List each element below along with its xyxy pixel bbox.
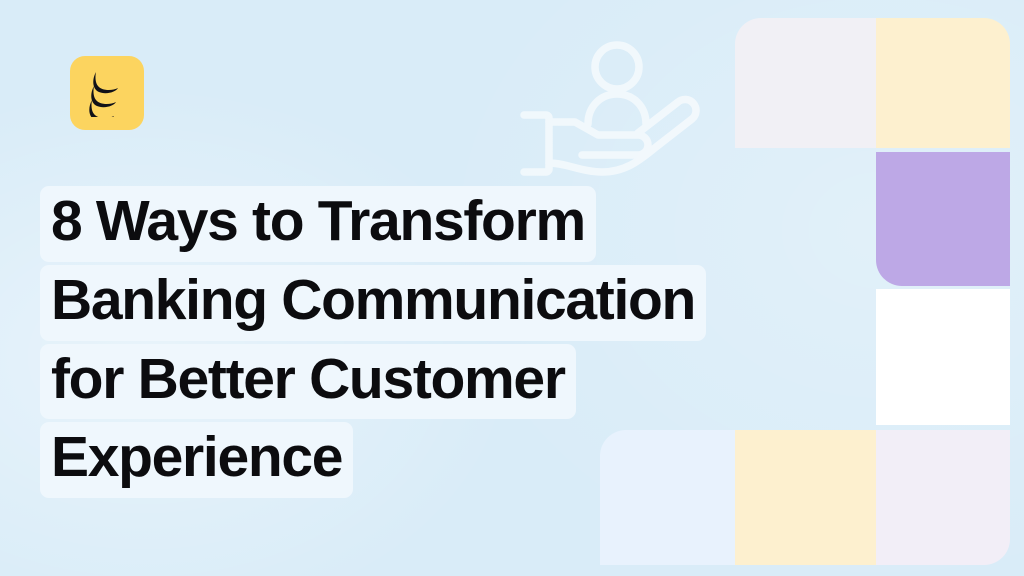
decor-grey-block [735,18,876,148]
decor-lilac-block [876,430,1010,565]
brand-logo[interactable] [70,56,144,130]
page-title: 8 Ways to Transform Banking Communicatio… [40,186,890,498]
headline-line-3: for Better Customer [40,344,576,420]
decor-white-block [876,289,1010,425]
hand-holding-person-icon [520,36,715,176]
headline-line-1: 8 Ways to Transform [40,186,596,262]
decor-purple-block [876,152,1010,286]
hero-canvas: 8 Ways to Transform Banking Communicatio… [0,0,1024,576]
headline-line-2: Banking Communication [40,265,706,341]
decor-cream-block-top [876,18,1010,148]
logo-waves-icon [84,69,130,117]
headline-line-4: Experience [40,422,353,498]
